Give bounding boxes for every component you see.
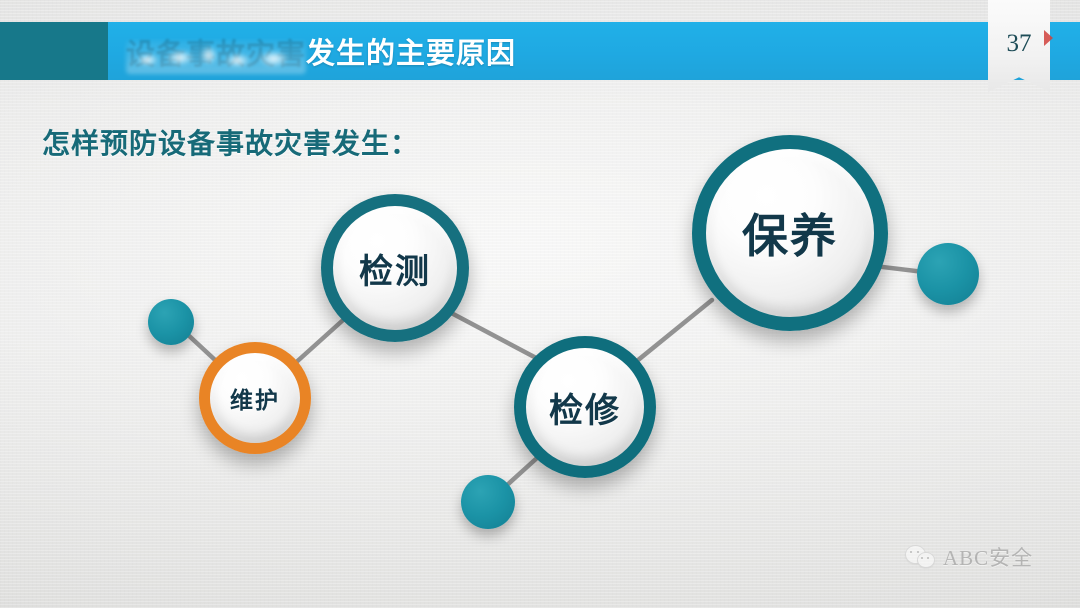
diagram-node-dot-bottom[interactable] [461,475,515,529]
diagram-node-jiance[interactable]: 检测 [321,194,469,342]
wechat-icon-eye [910,551,912,553]
wechat-icon-eye [921,557,923,559]
header-left-block [0,22,108,80]
slide-title: 设备事故灾害发生的主要原因 [126,22,516,80]
slide-title-redacted: 设备事故灾害 [126,30,306,72]
slide-title-visible: 发生的主要原因 [306,30,516,72]
slide-header: 设备事故灾害发生的主要原因 [0,22,1080,80]
diagram-node-baoyang-label: 保养 [706,149,874,317]
slide-canvas: 设备事故灾害发生的主要原因 37 怎样预防设备事故灾害发生： 维护 [0,0,1080,608]
diagram-node-dot-right-label [917,243,979,305]
diagram-node-dot-bottom-label [461,475,515,529]
diagram-node-jiance-label: 检测 [333,206,457,330]
diagram-node-jianxiu[interactable]: 检修 [514,336,656,478]
diagram-node-jianxiu-label: 检修 [526,348,644,466]
diagram-node-baoyang[interactable]: 保养 [692,135,888,331]
wechat-icon-bubble-small [917,552,935,568]
watermark-text: ABC安全 [943,542,1033,572]
watermark: ABC安全 [905,542,1033,572]
diagram-node-weihu[interactable]: 维护 [199,342,311,454]
ribbon-flag-icon [1044,30,1053,46]
page-number: 37 [988,30,1050,58]
process-diagram: 维护 检测 检修 保养 [0,0,1080,608]
diagram-node-dot-left-label [148,299,194,345]
slide-subtitle: 怎样预防设备事故灾害发生： [42,122,419,162]
wechat-icon-eye [927,557,929,559]
diagram-node-weihu-label: 维护 [210,353,300,443]
wechat-icon [905,545,935,569]
diagram-node-dot-right[interactable] [917,243,979,305]
diagram-node-dot-left[interactable] [148,299,194,345]
